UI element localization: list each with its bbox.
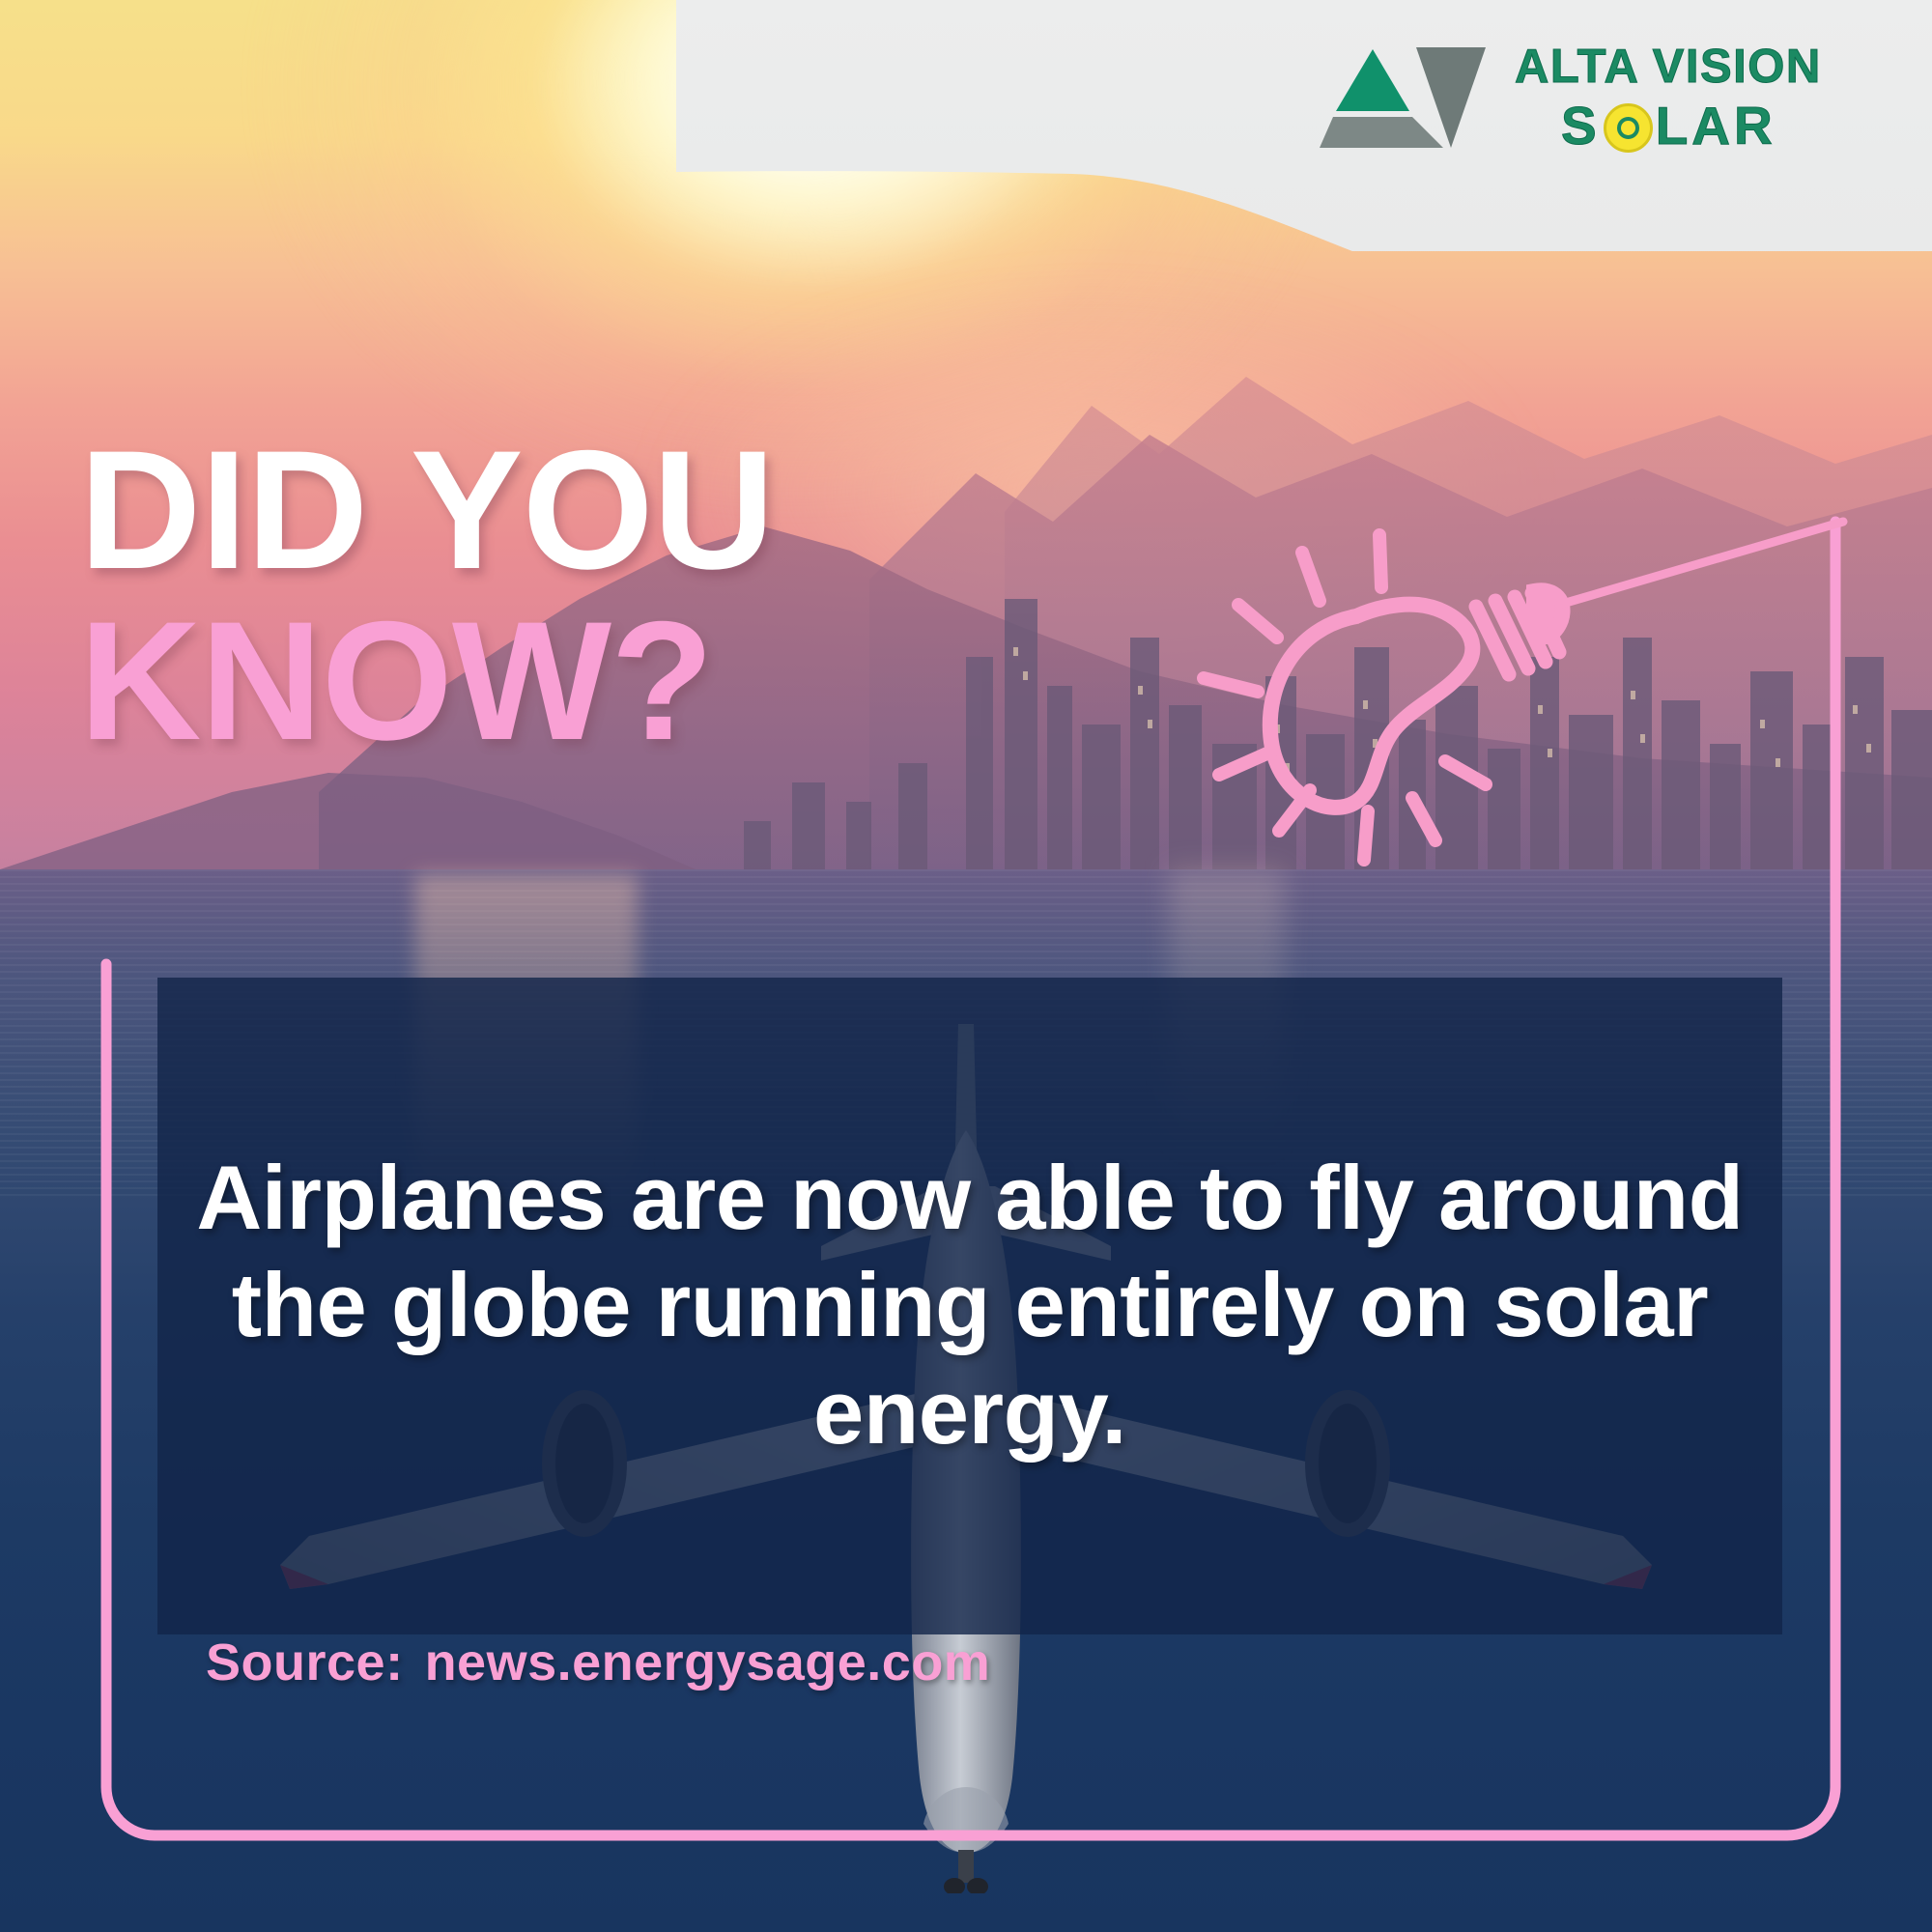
fact-text: Airplanes are now able to fly around the… (157, 1145, 1782, 1466)
solar-sun-o-icon (1604, 103, 1653, 153)
lightbulb-icon (1150, 512, 1864, 898)
logo-wordmark: ALTA VISION S LAR (1515, 43, 1822, 153)
logo-line-alta-vision: ALTA VISION (1515, 43, 1822, 91)
source-label: Source: (206, 1634, 404, 1691)
brand-logo[interactable]: ALTA VISION S LAR (1320, 35, 1899, 160)
social-post-canvas: ALTA VISION S LAR (0, 0, 1932, 1932)
source-value[interactable]: news.energysage.com (425, 1634, 991, 1691)
source-credit: Source:news.energysage.com (206, 1633, 990, 1692)
headline-line-1: DID YOU (79, 433, 774, 588)
headline-line-2: KNOW? (79, 604, 774, 759)
logo-solar-rest: LAR (1656, 99, 1776, 153)
page-title: DID YOU KNOW? (79, 433, 774, 759)
alta-vision-triangle-mark-icon (1320, 43, 1490, 152)
logo-line-solar: S LAR (1561, 99, 1822, 153)
logo-solar-s: S (1561, 99, 1601, 153)
